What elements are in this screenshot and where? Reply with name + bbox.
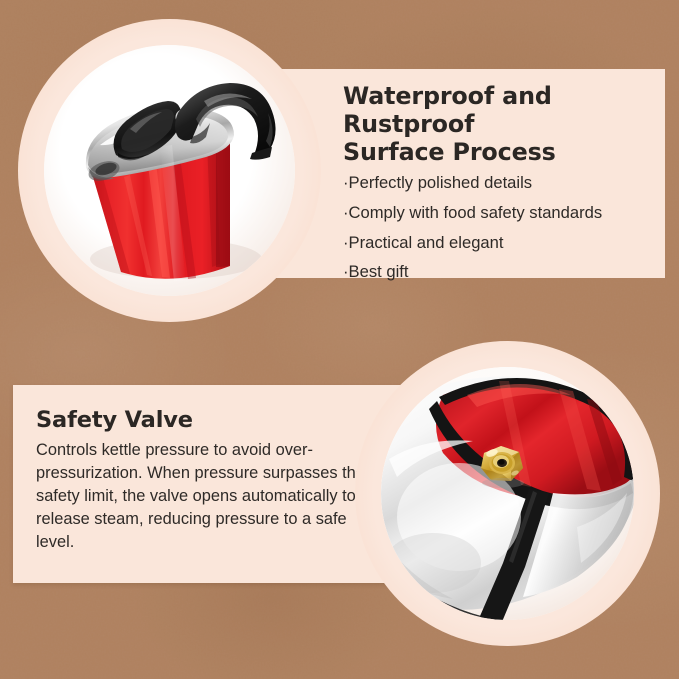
safety-valve-closeup-photo: [381, 367, 634, 620]
feature-bullet-list-waterproof: ·Perfectly polished details ·Comply with…: [343, 175, 653, 280]
feature-panel-waterproof-content: Waterproof and RustproofSurface Process …: [343, 83, 653, 281]
feature-heading-waterproof-line2: Surface Process: [343, 138, 556, 166]
feature-bullet-item: ·Best gift: [343, 264, 653, 281]
feature-bullet-item: ·Comply with food safety standards: [343, 205, 653, 222]
feature-panel-safety-valve-content: Safety Valve Controls kettle pressure to…: [36, 407, 368, 554]
kettle-lid-photo-circle: [18, 19, 321, 322]
safety-valve-illustration: [381, 367, 634, 620]
feature-bullet-item: ·Perfectly polished details: [343, 175, 653, 192]
infographic-canvas: Waterproof and RustproofSurface Process …: [0, 0, 679, 679]
kettle-lid-closeup-photo: [44, 45, 295, 296]
safety-valve-photo-circle: [355, 341, 660, 646]
kettle-illustration: [44, 45, 295, 296]
feature-heading-waterproof: Waterproof and RustproofSurface Process: [343, 83, 653, 166]
feature-heading-waterproof-line1: Waterproof and Rustproof: [343, 82, 552, 138]
brass-safety-valve-part: [481, 446, 524, 488]
feature-bullet-item: ·Practical and elegant: [343, 235, 653, 252]
feature-heading-safety-valve: Safety Valve: [36, 407, 368, 433]
feature-body-safety-valve: Controls kettle pressure to avoid over-p…: [36, 439, 368, 554]
